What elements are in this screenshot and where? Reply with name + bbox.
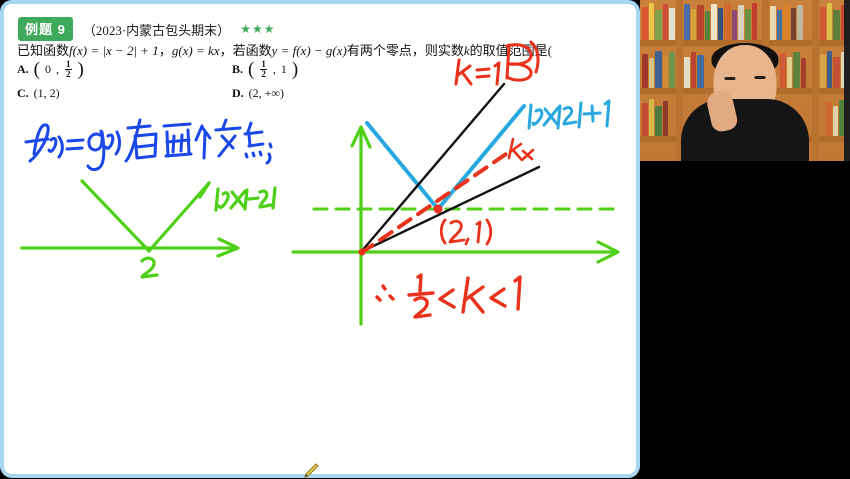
option-b-label: B. — [232, 62, 243, 77]
book — [752, 3, 757, 40]
book — [655, 106, 662, 136]
problem-source: （2023·内蒙古包头期末） — [83, 20, 230, 39]
book — [649, 99, 654, 136]
option-a-close-paren: ) — [78, 60, 84, 79]
option-a-comma: , — [56, 62, 59, 77]
book — [663, 56, 668, 88]
whiteboard-panel[interactable]: 例题 9 （2023·内蒙古包头期末） ★★★ 已知函数f(x) = |x − … — [0, 0, 640, 478]
book — [777, 10, 782, 40]
option-a[interactable]: A. ( 0, 1 2 ) — [17, 60, 84, 80]
problem-stem: 已知函数f(x) = |x − 2| + 1，g(x) = kx，若函数y = … — [17, 40, 552, 59]
option-b-comma: , — [273, 62, 276, 77]
book — [655, 51, 662, 88]
book — [833, 106, 838, 136]
book — [827, 51, 832, 88]
book — [833, 57, 840, 88]
book — [711, 4, 717, 40]
teacher-figure — [681, 49, 809, 161]
book — [820, 7, 826, 40]
book — [649, 3, 654, 40]
book — [783, 4, 790, 40]
book — [797, 5, 803, 40]
stem-formula-f: f(x) = |x − 2| + 1 — [69, 43, 159, 58]
book — [655, 10, 662, 40]
book — [642, 7, 648, 40]
option-b-denominator: 2 — [261, 70, 266, 79]
book — [663, 4, 668, 40]
stem-text-2: ， — [159, 43, 172, 58]
option-a-open-paren: ( — [34, 60, 40, 79]
book — [649, 58, 654, 88]
option-b-fraction: 1 2 — [260, 60, 267, 80]
option-d-value: (2, +∞) — [249, 86, 284, 101]
options-row-2: C. (1, 2) D. (2, +∞) — [17, 86, 457, 112]
book — [718, 8, 723, 40]
book — [669, 52, 675, 88]
stem-text-1: 已知函数 — [17, 43, 69, 58]
option-c-label: C. — [17, 86, 29, 101]
pencil-cursor — [303, 462, 320, 479]
problem-header: 例题 9 （2023·内蒙古包头期末） ★★★ — [18, 17, 275, 41]
video-panel[interactable] — [640, 0, 850, 478]
options-list: A. ( 0, 1 2 ) B. ( 1 2 , 1 — [17, 60, 457, 112]
book — [791, 8, 796, 40]
video-lower-blank — [640, 161, 850, 478]
torso — [681, 99, 809, 161]
left-eye — [725, 77, 736, 80]
option-b-close-paren: ) — [292, 60, 298, 79]
book — [820, 54, 826, 88]
shelf-post-3 — [812, 0, 819, 161]
book — [705, 11, 710, 40]
book — [663, 101, 668, 136]
book — [697, 5, 704, 40]
options-row-1: A. ( 0, 1 2 ) B. ( 1 2 , 1 — [17, 60, 457, 86]
option-a-denominator: 2 — [66, 70, 71, 79]
video-edge-shadow — [844, 0, 850, 161]
option-a-fraction: 1 2 — [65, 60, 72, 80]
stem-text-3: ，若函数 — [220, 43, 272, 58]
example-badge: 例题 9 — [18, 17, 73, 41]
stem-formula-g: g(x) = kx — [172, 43, 220, 58]
book — [738, 5, 744, 40]
option-d[interactable]: D. (2, +∞) — [232, 86, 284, 101]
option-a-label: A. — [17, 62, 29, 77]
book — [732, 10, 737, 40]
book — [684, 4, 690, 40]
book — [724, 3, 731, 40]
book — [833, 10, 840, 40]
option-c-value: (1, 2) — [34, 86, 60, 101]
book — [827, 3, 832, 40]
stem-text-5: 的取值范围是( — [470, 43, 552, 58]
option-d-label: D. — [232, 86, 244, 101]
difficulty-stars: ★★★ — [240, 22, 275, 37]
book — [745, 9, 751, 40]
book — [770, 6, 776, 40]
book — [669, 8, 675, 40]
book — [691, 9, 696, 40]
right-eye — [755, 76, 766, 79]
option-c[interactable]: C. (1, 2) — [17, 86, 60, 101]
teacher-webcam-feed[interactable] — [640, 0, 850, 161]
option-b-right-value: 1 — [281, 62, 287, 77]
book — [642, 54, 648, 88]
option-b-open-paren: ( — [248, 60, 254, 79]
option-b[interactable]: B. ( 1 2 , 1 ) — [232, 60, 298, 80]
book — [642, 103, 648, 136]
option-a-left-value: 0 — [45, 62, 51, 77]
screen-root: 例题 9 （2023·内蒙古包头期末） ★★★ 已知函数f(x) = |x − … — [0, 0, 850, 478]
book — [826, 102, 832, 136]
stem-formula-y: y = f(x) − g(x) — [272, 43, 347, 58]
stem-text-4: 有两个零点，则实数 — [347, 43, 464, 58]
